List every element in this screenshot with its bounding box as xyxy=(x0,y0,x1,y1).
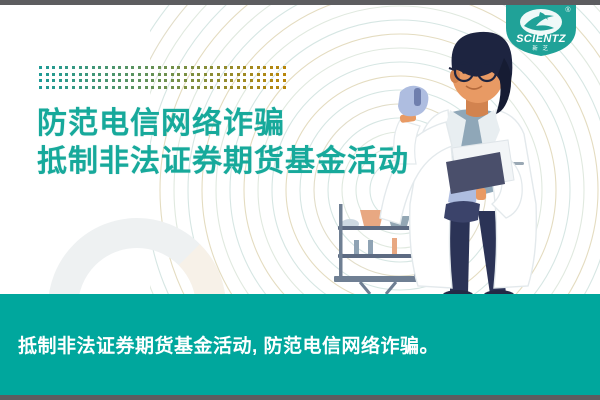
logo-registered-icon: ® xyxy=(565,6,571,14)
dot-matrix-dot xyxy=(92,79,95,82)
dot-matrix-dot xyxy=(65,86,68,89)
dot-matrix-dot xyxy=(164,73,167,76)
dot-matrix-dot xyxy=(39,86,42,89)
dot-matrix-dot xyxy=(276,73,279,76)
dot-matrix-dot xyxy=(250,66,253,69)
dot-matrix-dot xyxy=(52,79,55,82)
dot-matrix-dot xyxy=(125,66,128,69)
dot-matrix-dot xyxy=(145,79,148,82)
dot-matrix-dot xyxy=(118,86,121,89)
logo-chinese-mark: 新 芝 xyxy=(532,44,549,52)
dot-matrix-dot xyxy=(98,86,101,89)
dot-matrix-dot xyxy=(283,73,286,76)
headline-line-1: 防范电信网络诈骗 xyxy=(37,105,467,143)
top-chrome-bar xyxy=(0,0,600,5)
dot-matrix-dot xyxy=(125,86,128,89)
dot-matrix-dot xyxy=(250,73,253,76)
dot-matrix-dot xyxy=(72,79,75,82)
dot-matrix-dot xyxy=(171,73,174,76)
dot-matrix-dot xyxy=(158,66,161,69)
dot-matrix-dot xyxy=(197,73,200,76)
dot-matrix-dot xyxy=(217,73,220,76)
bottom-chrome-bar xyxy=(0,395,600,400)
dot-matrix-dot xyxy=(105,79,108,82)
dot-matrix-dot xyxy=(46,86,49,89)
dot-matrix-dot xyxy=(151,86,154,89)
dot-matrix-dot xyxy=(105,86,108,89)
dot-matrix-dot xyxy=(191,86,194,89)
dot-matrix-dot xyxy=(59,86,62,89)
dot-matrix-dot xyxy=(210,66,213,69)
dot-matrix-dot xyxy=(243,66,246,69)
dot-matrix-dot xyxy=(92,66,95,69)
poster-canvas: SCIENTZ 新 芝 ® 防范电信网络诈骗 抵制非法证券期货基金活动 抵制非法… xyxy=(0,0,600,400)
scientist-eye-right xyxy=(485,70,489,74)
dot-matrix-dot xyxy=(131,73,134,76)
dot-matrix-dot xyxy=(65,73,68,76)
dot-matrix-dot xyxy=(138,66,141,69)
dot-matrix-dot xyxy=(85,86,88,89)
dot-matrix-dot xyxy=(191,66,194,69)
slogan-panel: 抵制非法证券期货基金活动, 防范电信网络诈骗。 xyxy=(0,294,600,395)
dot-matrix-dot xyxy=(184,73,187,76)
scientist-forearm-dark xyxy=(444,201,480,223)
dot-matrix-dot xyxy=(270,66,273,69)
dot-matrix-dot xyxy=(171,66,174,69)
dot-matrix-dot xyxy=(191,73,194,76)
dot-matrix-dot xyxy=(72,73,75,76)
dot-matrix-dot xyxy=(171,86,174,89)
dot-matrix-dot xyxy=(118,79,121,82)
dot-matrix-dot xyxy=(98,73,101,76)
dot-matrix-dot xyxy=(125,73,128,76)
dot-matrix-dot xyxy=(177,79,180,82)
dot-matrix-dot xyxy=(177,86,180,89)
dot-matrix-dot xyxy=(184,66,187,69)
dot-matrix-dot xyxy=(138,79,141,82)
scientist-eye-left xyxy=(462,70,466,74)
dot-matrix-dot xyxy=(112,66,115,69)
dot-matrix-dot xyxy=(125,79,128,82)
dot-matrix-dot xyxy=(79,86,82,89)
dot-matrix-dot xyxy=(164,79,167,82)
dot-matrix-dot xyxy=(276,79,279,82)
dot-matrix-dot xyxy=(257,66,260,69)
dot-matrix-dot xyxy=(59,73,62,76)
dot-matrix-dot xyxy=(237,79,240,82)
dot-matrix-dot xyxy=(230,79,233,82)
dot-matrix-dot xyxy=(65,79,68,82)
dot-matrix-dot xyxy=(46,66,49,69)
dot-matrix-dot xyxy=(92,73,95,76)
dot-matrix-dot xyxy=(105,73,108,76)
dot-matrix-dot xyxy=(118,73,121,76)
dot-matrix-dot xyxy=(243,86,246,89)
dot-matrix-dot xyxy=(145,66,148,69)
dot-matrix-dot xyxy=(145,86,148,89)
dot-matrix-dot xyxy=(138,86,141,89)
dot-matrix-dot xyxy=(210,73,213,76)
dot-matrix-dot xyxy=(171,79,174,82)
dot-matrix-dot xyxy=(263,79,266,82)
dot-matrix-dot xyxy=(39,66,42,69)
dot-matrix-dot xyxy=(151,79,154,82)
dot-matrix-dot xyxy=(39,73,42,76)
dot-matrix-dot xyxy=(197,86,200,89)
dot-matrix-dot xyxy=(224,79,227,82)
dot-matrix-row xyxy=(39,86,290,93)
dot-matrix-dot xyxy=(131,79,134,82)
dot-matrix-dot xyxy=(283,86,286,89)
dot-matrix-dot xyxy=(237,66,240,69)
dot-matrix-dot xyxy=(39,79,42,82)
dot-matrix-dot xyxy=(270,86,273,89)
dot-matrix-dot xyxy=(217,86,220,89)
dot-matrix-dot xyxy=(158,86,161,89)
dot-matrix-dot xyxy=(164,66,167,69)
dot-matrix-dot xyxy=(52,73,55,76)
dot-matrix-dot xyxy=(243,79,246,82)
dot-matrix-dot xyxy=(270,79,273,82)
dot-matrix-dot xyxy=(263,86,266,89)
dot-matrix-dot xyxy=(224,86,227,89)
dot-matrix-dot xyxy=(158,79,161,82)
dot-matrix-dot xyxy=(65,66,68,69)
dot-matrix-dot xyxy=(257,73,260,76)
dot-matrix-dot xyxy=(243,73,246,76)
dot-matrix-dot xyxy=(204,73,207,76)
dot-matrix-dot xyxy=(224,73,227,76)
dot-matrix-dot xyxy=(98,66,101,69)
dot-matrix-dot xyxy=(283,66,286,69)
dot-matrix-dot xyxy=(276,66,279,69)
dot-matrix-dot xyxy=(230,66,233,69)
dot-matrix-dot xyxy=(85,73,88,76)
dot-matrix-dot xyxy=(191,79,194,82)
dot-matrix-dot xyxy=(257,86,260,89)
dot-matrix-dot xyxy=(79,66,82,69)
dot-matrix-dot xyxy=(158,73,161,76)
dot-matrix-dot xyxy=(79,73,82,76)
scientist-hand-lower xyxy=(476,188,486,200)
dot-matrix-dot xyxy=(72,86,75,89)
dot-matrix-dot xyxy=(217,66,220,69)
slogan-text: 抵制非法证券期货基金活动, 防范电信网络诈骗。 xyxy=(0,331,439,358)
dot-matrix-dot xyxy=(210,86,213,89)
dot-matrix-dot xyxy=(263,66,266,69)
dot-matrix-dot xyxy=(131,66,134,69)
dot-matrix-dot xyxy=(257,79,260,82)
dot-matrix-dot xyxy=(224,66,227,69)
dot-matrix-dot xyxy=(250,86,253,89)
dot-matrix-dot xyxy=(263,73,266,76)
dot-matrix-dot xyxy=(204,86,207,89)
dot-matrix-dot xyxy=(164,86,167,89)
dot-matrix-dot xyxy=(118,66,121,69)
dot-matrix-dot xyxy=(184,79,187,82)
dot-matrix-dot xyxy=(52,86,55,89)
dot-matrix-dot xyxy=(237,73,240,76)
dot-matrix-dot xyxy=(105,66,108,69)
dot-matrix-dot xyxy=(217,79,220,82)
headline-block: 防范电信网络诈骗 抵制非法证券期货基金活动 xyxy=(37,105,467,181)
dot-matrix-dot xyxy=(52,66,55,69)
dot-matrix-dot xyxy=(46,73,49,76)
dot-matrix-dot xyxy=(59,66,62,69)
scientist-leg-back xyxy=(450,211,470,294)
dot-matrix-decoration xyxy=(39,66,290,92)
dot-matrix-dot xyxy=(197,79,200,82)
dot-matrix-dot xyxy=(92,86,95,89)
dot-matrix-dot xyxy=(204,79,207,82)
scientz-logo[interactable]: SCIENTZ 新 芝 ® xyxy=(500,0,582,56)
dot-matrix-dot xyxy=(250,79,253,82)
dot-matrix-dot xyxy=(112,79,115,82)
dot-matrix-dot xyxy=(230,73,233,76)
dot-matrix-dot xyxy=(85,79,88,82)
dot-matrix-dot xyxy=(112,86,115,89)
dot-matrix-dot xyxy=(112,73,115,76)
dot-matrix-dot xyxy=(276,86,279,89)
dot-matrix-dot xyxy=(46,79,49,82)
dot-matrix-dot xyxy=(79,79,82,82)
dot-matrix-dot xyxy=(145,73,148,76)
dot-matrix-dot xyxy=(98,79,101,82)
dot-matrix-dot xyxy=(85,66,88,69)
dot-matrix-dot xyxy=(59,79,62,82)
dot-matrix-dot xyxy=(210,79,213,82)
dot-matrix-dot xyxy=(184,86,187,89)
test-tube xyxy=(414,88,421,106)
dot-matrix-dot xyxy=(131,86,134,89)
dot-matrix-dot xyxy=(151,66,154,69)
dot-matrix-dot xyxy=(72,66,75,69)
dot-matrix-dot xyxy=(197,66,200,69)
dot-matrix-dot xyxy=(204,66,207,69)
dot-matrix-dot xyxy=(237,86,240,89)
dot-matrix-dot xyxy=(230,86,233,89)
dot-matrix-dot xyxy=(177,66,180,69)
headline-line-2: 抵制非法证券期货基金活动 xyxy=(37,143,467,181)
logo-wordmark: SCIENTZ xyxy=(516,33,567,45)
dot-matrix-dot xyxy=(151,73,154,76)
dot-matrix-dot xyxy=(177,73,180,76)
dot-matrix-dot xyxy=(270,73,273,76)
dot-matrix-dot xyxy=(138,73,141,76)
dot-matrix-dot xyxy=(283,79,286,82)
